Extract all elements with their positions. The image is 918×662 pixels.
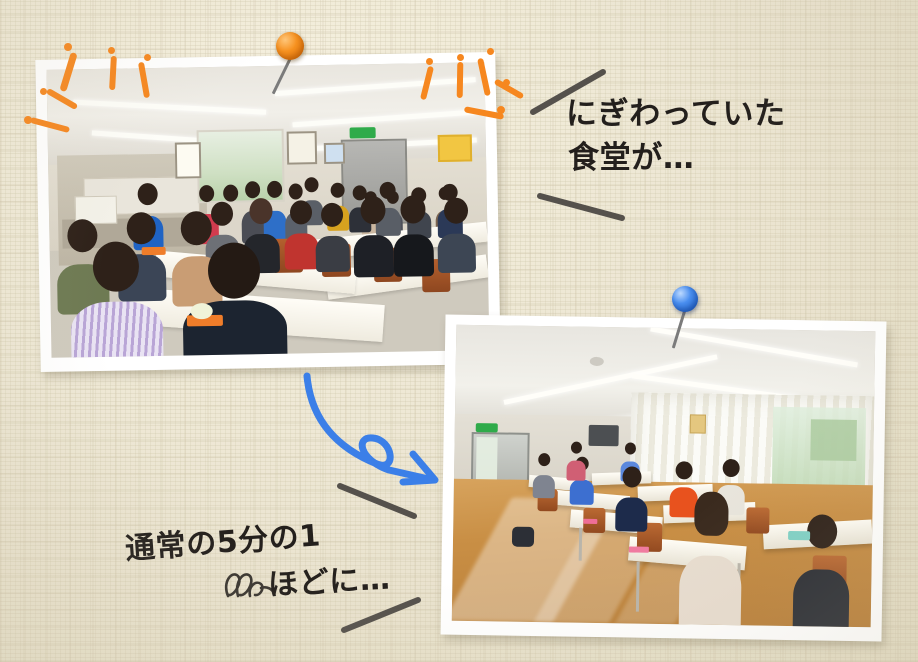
orange-pushpin[interactable] (262, 32, 322, 92)
pushpin-head (672, 286, 698, 312)
pushpin-needle (672, 308, 687, 349)
photo-sparse-cafeteria (452, 325, 876, 628)
photo-card-crowded-cafeteria[interactable] (35, 52, 500, 372)
photo-card-sparse-cafeteria[interactable] (441, 315, 887, 642)
pushpin-head (276, 32, 304, 60)
blue-pushpin[interactable] (656, 286, 714, 348)
page-canvas: にぎわっていた 食堂が… 通常の5分の1 ほどに… (0, 0, 918, 662)
caption2-line2: ほどに… (267, 554, 392, 604)
caption1-line1: にぎわっていた (566, 92, 786, 136)
caption-busy-cafeteria: にぎわっていた 食堂が… (566, 92, 786, 180)
pushpin-needle (272, 55, 293, 94)
caption1-line2: 食堂が… (568, 136, 786, 180)
photo-crowded-cafeteria (46, 62, 489, 358)
